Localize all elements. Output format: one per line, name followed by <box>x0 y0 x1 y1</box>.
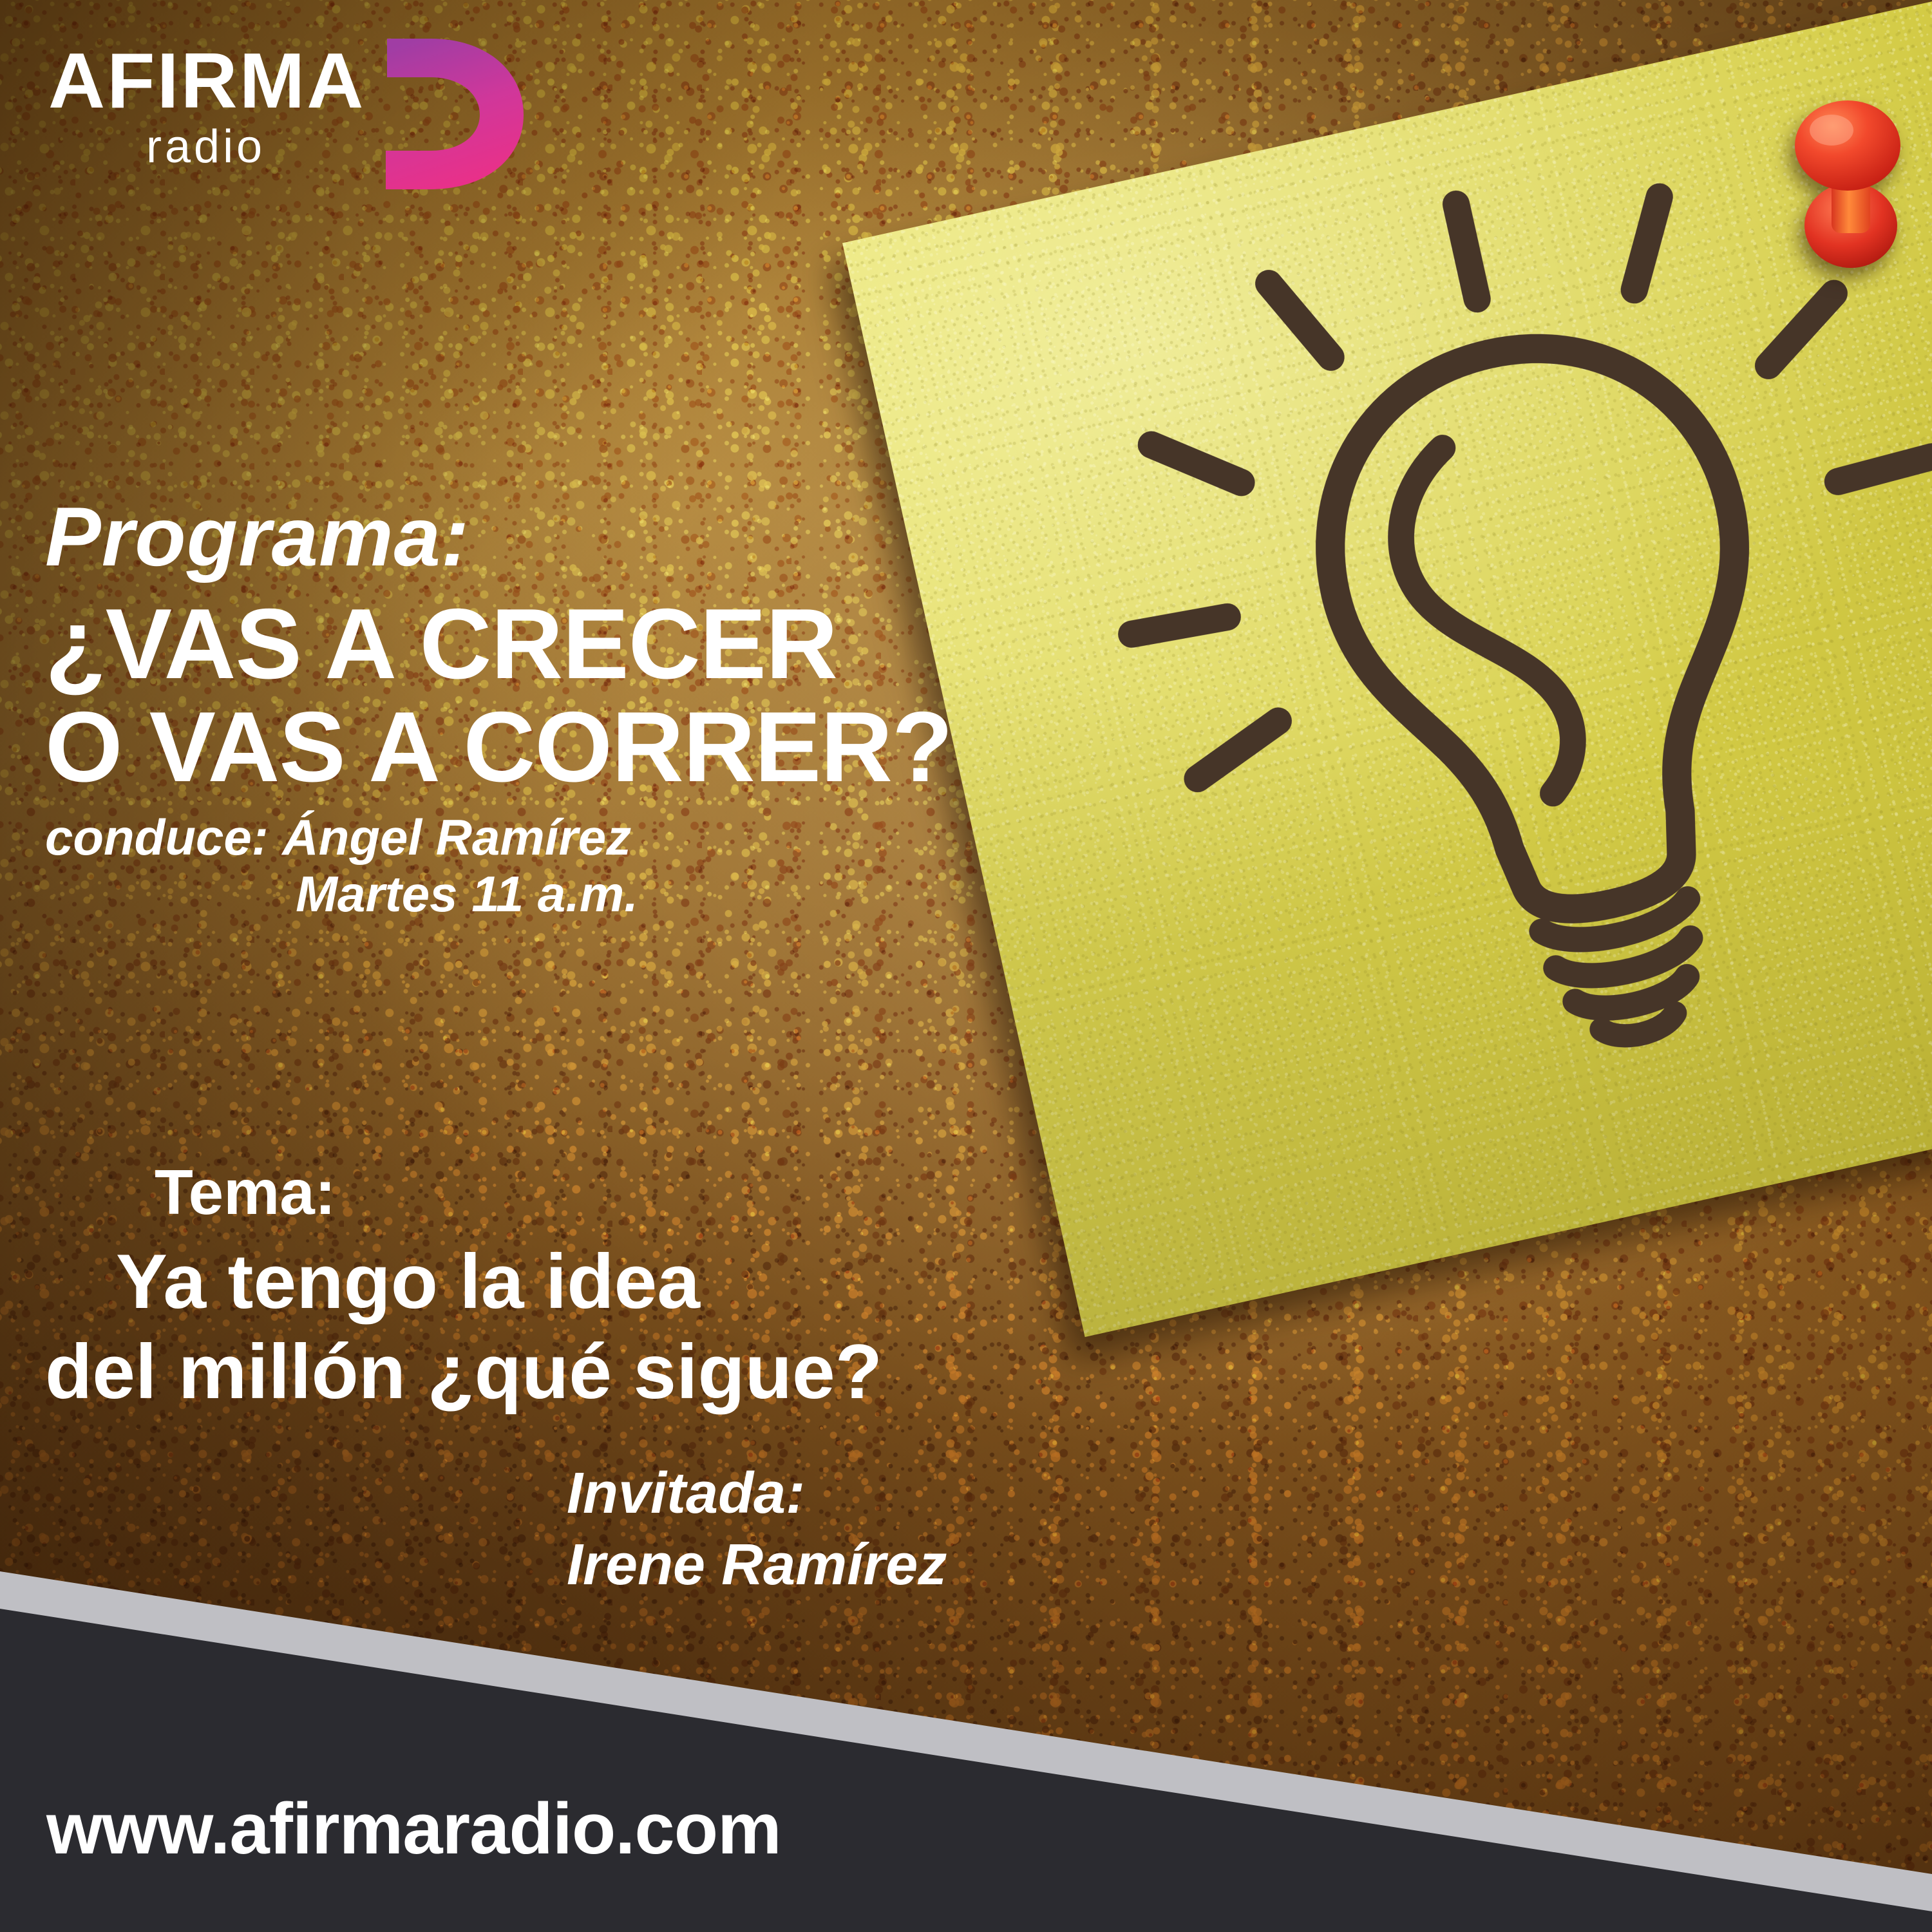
host-credit: conduce: Ángel Ramírez <box>45 810 1307 866</box>
footer-dark-panel <box>0 1609 1932 1932</box>
logo-wordmark: AFIRMA <box>48 41 365 120</box>
invitada-label: Invitada: <box>567 1462 1468 1526</box>
logo-subtext: radio <box>146 124 265 170</box>
tema-label: Tema: <box>155 1159 1365 1226</box>
topic-block: Tema: Ya tengo la idea del millón ¿qué s… <box>45 1159 1365 1416</box>
push-pin-icon <box>1775 97 1923 270</box>
brand-logo: AFIRMA radio <box>48 31 499 192</box>
schedule-text: Martes 11 a.m. <box>45 866 889 922</box>
footer-diagonal-band <box>0 1571 1932 1932</box>
program-title-line-2: O VAS A CORRER? <box>45 696 1307 799</box>
logo-arc-icon <box>381 33 529 194</box>
topic-line-2: del millón ¿qué sigue? <box>45 1329 1365 1415</box>
topic-line-1: Ya tengo la idea <box>116 1238 1365 1325</box>
programa-label: Programa: <box>45 495 1307 578</box>
poster-canvas: AFIRMA radio Programa: ¿VAS A CRECER O V… <box>0 0 1932 1932</box>
headline-block: Programa: ¿VAS A CRECER O VAS A CORRER? … <box>45 495 1307 922</box>
website-url: www.afirmaradio.com <box>46 1787 781 1870</box>
program-title-line-1: ¿VAS A CRECER <box>45 592 1307 696</box>
